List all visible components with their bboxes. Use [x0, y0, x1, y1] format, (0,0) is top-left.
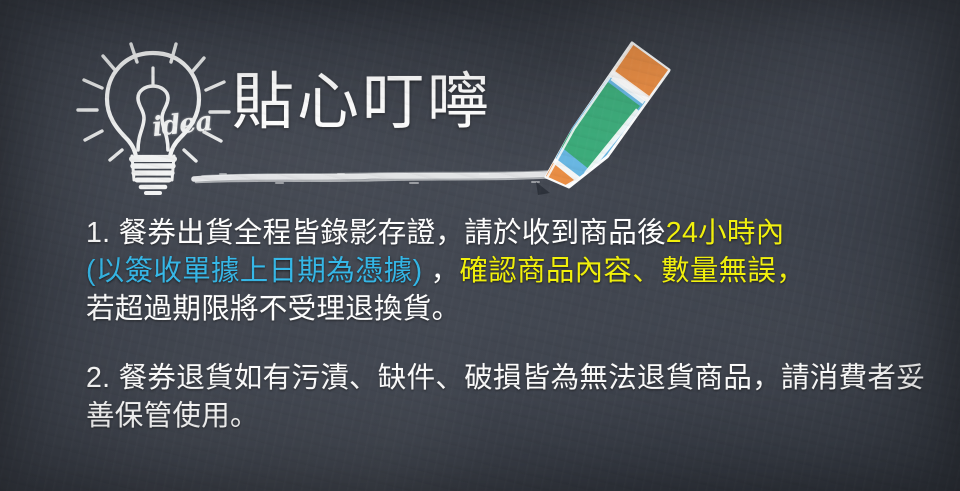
note-2-number: 2.: [86, 362, 110, 394]
page-title: 貼心叮嚀: [232, 72, 492, 134]
note-1-seg-2-highlight: (以簽收單據上日期為憑據): [86, 255, 422, 287]
note-item-1: 1. 餐券出貨全程皆錄影存證，請於收到商品後24小時內(以簽收單據上日期為憑據)…: [86, 214, 946, 328]
notes-list: 1. 餐券出貨全程皆錄影存證，請於收到商品後24小時內(以簽收單據上日期為憑據)…: [86, 214, 946, 435]
note-1-number: 1.: [86, 217, 110, 249]
pencil-icon: [528, 36, 680, 196]
note-item-2: 2. 餐券退貨如有污漬、缺件、破損皆為無法退貨商品，請消費者妥善保管使用。: [86, 359, 946, 435]
note-1-seg-4-highlight: 確認商品內容、數量無誤，: [459, 255, 805, 287]
note-1-seg-0: 餐券出貨全程皆錄影存證，請於收到商品後: [110, 217, 665, 249]
note-1-seg-1-highlight: 24小時內: [666, 217, 785, 249]
note-2-seg-0: 餐券退貨如有污漬、缺件、破損皆為無法退貨商品，請消費者妥善保管使用。: [86, 362, 925, 432]
note-1-seg-5: 若超過期限將不受理退換貨。: [86, 293, 460, 325]
chalk-underline: [180, 158, 580, 192]
chalkboard-slide: idea 貼心叮嚀: [0, 0, 960, 491]
note-1-seg-3: ，: [422, 255, 459, 287]
bulb-idea-label: idea: [134, 95, 231, 152]
